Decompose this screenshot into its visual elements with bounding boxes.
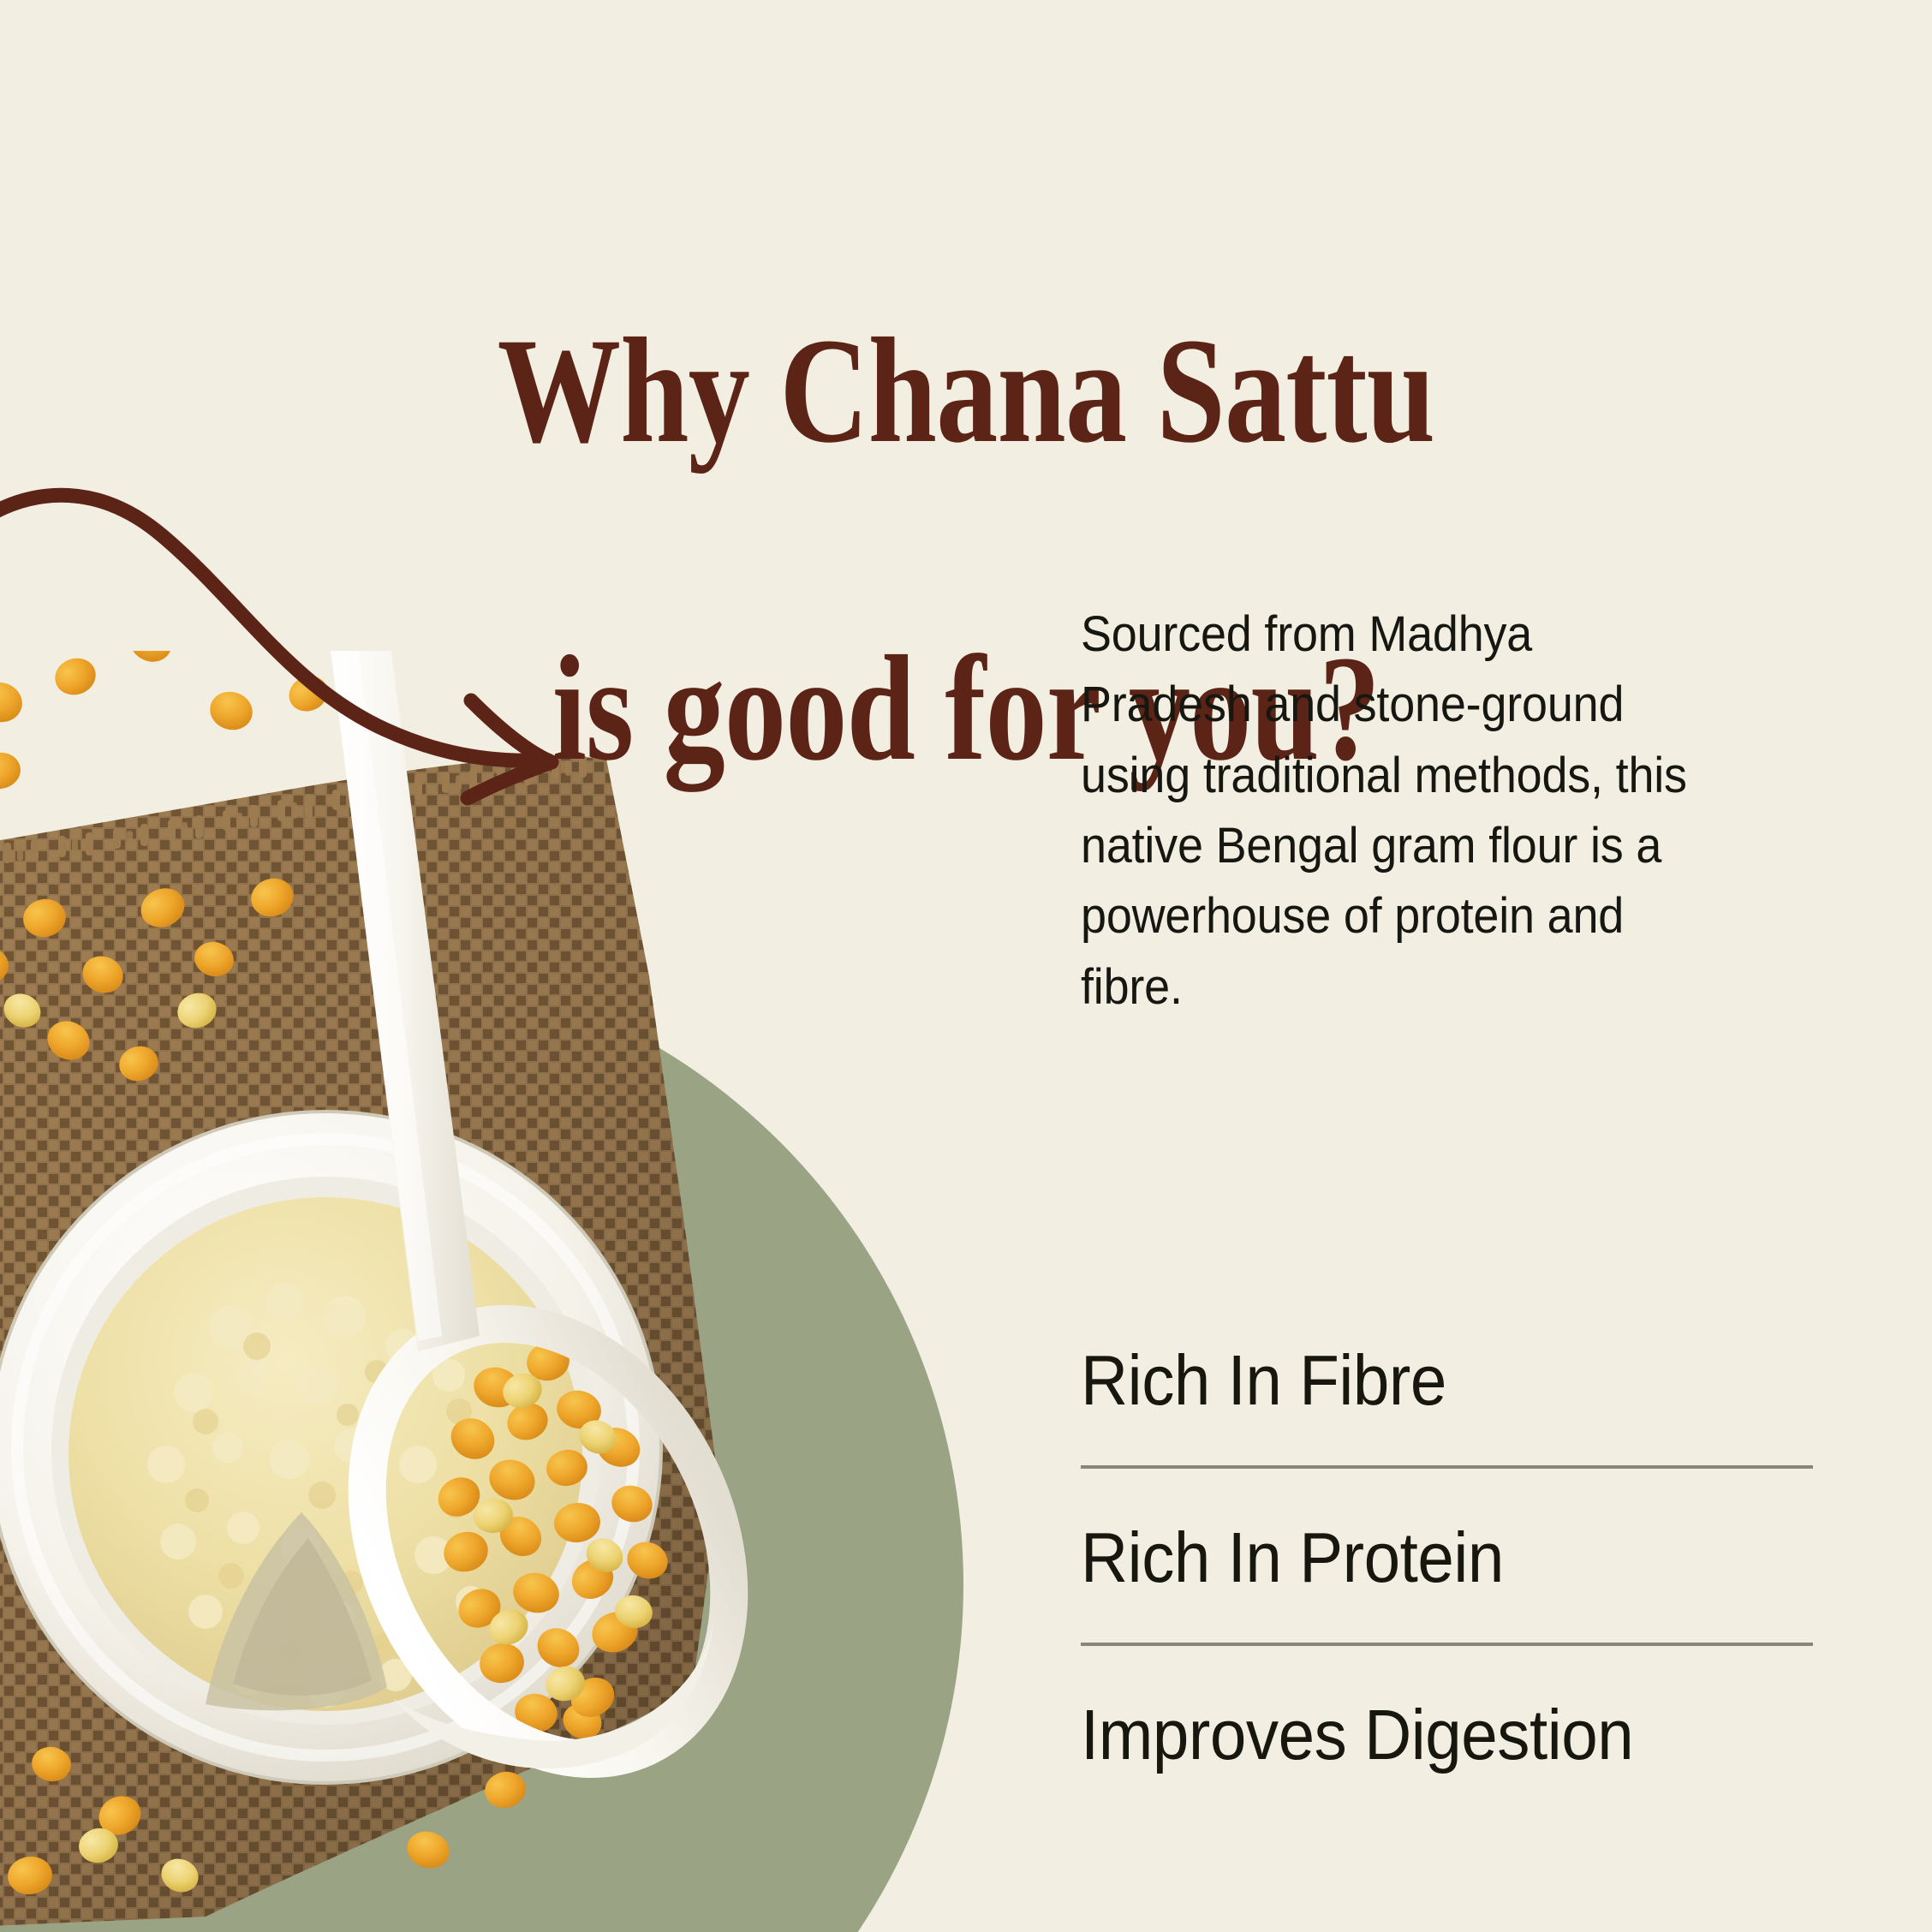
benefits-list: Rich In Fibre Rich In Protein Improves D…: [1081, 1345, 1817, 1770]
poster-canvas: Why Chana Sattu is good for you? Sourced…: [0, 0, 1932, 1932]
list-item: Improves Digestion: [1081, 1699, 1817, 1770]
benefit-label-protein: Rich In Protein: [1081, 1522, 1758, 1593]
benefit-label-digestion: Improves Digestion: [1081, 1699, 1758, 1770]
benefit-label-fibre: Rich In Fibre: [1081, 1345, 1758, 1416]
page-title-line-1: Why Chana Sattu: [174, 311, 1758, 472]
benefit-divider-1: [1081, 1465, 1813, 1469]
list-item: Rich In Protein: [1081, 1522, 1817, 1593]
body-paragraph: Sourced from Madhya Pradesh and stone-gr…: [1081, 599, 1710, 1023]
list-item: Rich In Fibre: [1081, 1345, 1817, 1416]
benefit-divider-2: [1081, 1643, 1813, 1646]
